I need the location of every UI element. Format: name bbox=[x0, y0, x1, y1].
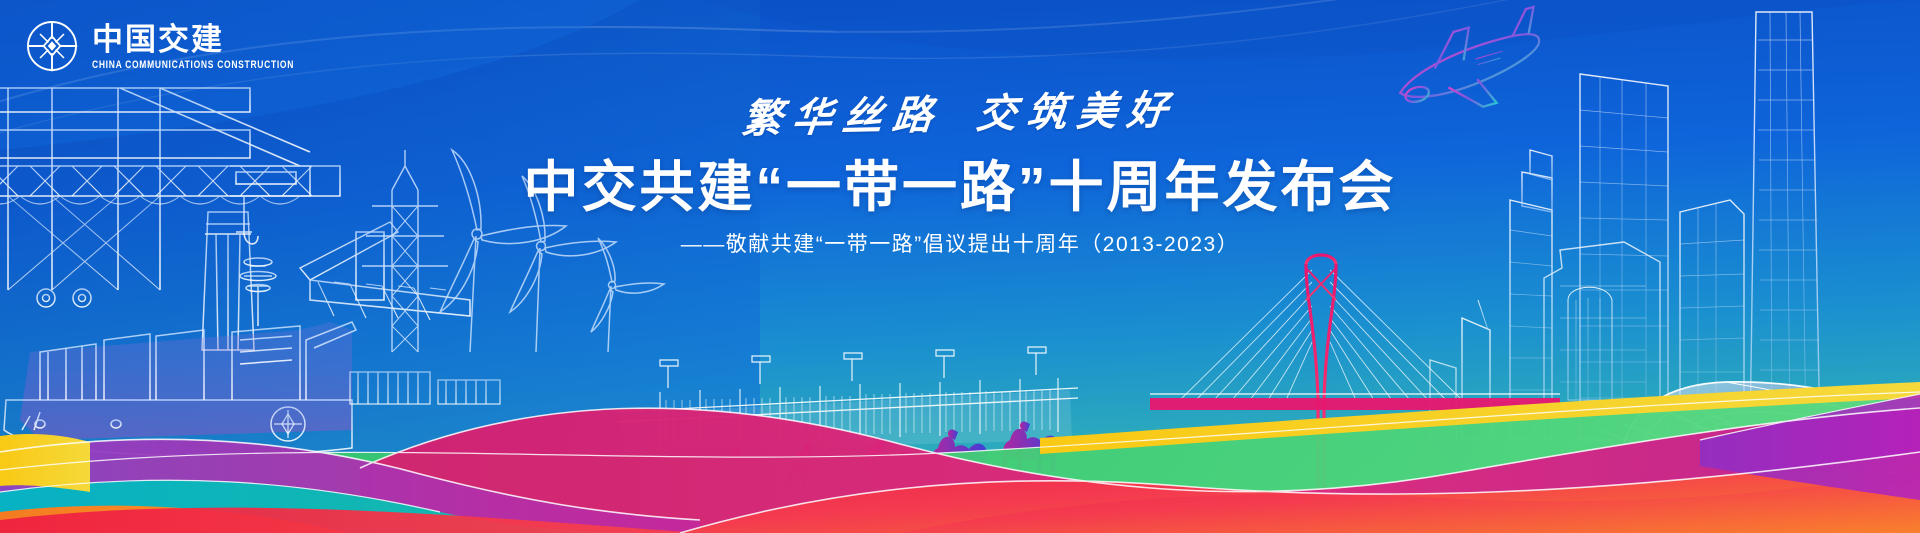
ccc-compass-mark bbox=[22, 16, 82, 76]
brand-logo[interactable]: 中国交建 CHINA COMMUNICATIONS CONSTRUCTION bbox=[22, 14, 262, 78]
banner-artwork bbox=[0, 0, 1920, 533]
logo-chinese-name: 中国交建 bbox=[92, 24, 294, 55]
event-banner: 中国交建 CHINA COMMUNICATIONS CONSTRUCTION 繁… bbox=[0, 0, 1920, 533]
logo-english-name: CHINA COMMUNICATIONS CONSTRUCTION bbox=[92, 59, 294, 70]
